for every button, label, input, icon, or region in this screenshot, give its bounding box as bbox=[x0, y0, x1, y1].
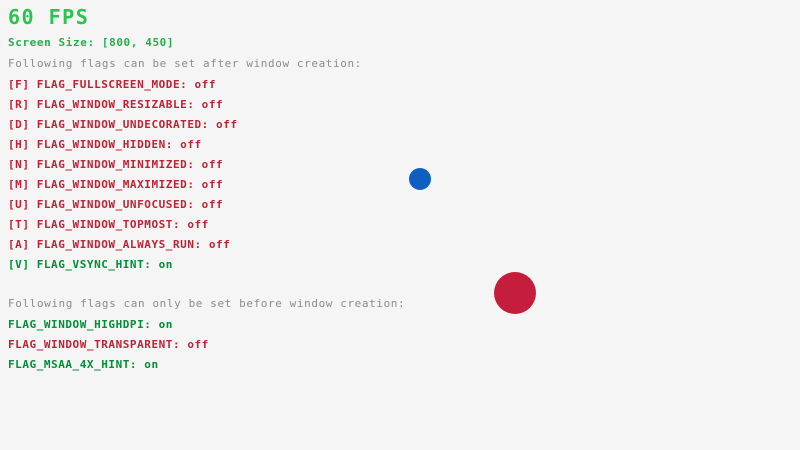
raylib-window-canvas[interactable]: 60 FPS Screen Size: [800, 450] Following… bbox=[0, 0, 800, 450]
flag-row-window-maximized[interactable]: [M] FLAG_WINDOW_MAXIMIZED: off bbox=[8, 179, 223, 190]
flag-row-window-always-run[interactable]: [A] FLAG_WINDOW_ALWAYS_RUN: off bbox=[8, 239, 230, 250]
flag-row-vsync-hint[interactable]: [V] FLAG_VSYNC_HINT: on bbox=[8, 259, 173, 270]
flag-row-msaa-4x-hint: FLAG_MSAA_4X_HINT: on bbox=[8, 359, 159, 370]
flag-row-window-hidden[interactable]: [H] FLAG_WINDOW_HIDDEN: off bbox=[8, 139, 202, 150]
screen-size-label: Screen Size: [800, 450] bbox=[8, 37, 174, 48]
flag-row-window-transparent: FLAG_WINDOW_TRANSPARENT: off bbox=[8, 339, 209, 350]
red-ball-shape bbox=[494, 272, 536, 314]
fps-counter: 60 FPS bbox=[8, 7, 89, 27]
flag-row-window-topmost[interactable]: [T] FLAG_WINDOW_TOPMOST: off bbox=[8, 219, 209, 230]
flag-row-window-undecorated[interactable]: [D] FLAG_WINDOW_UNDECORATED: off bbox=[8, 119, 238, 130]
blue-ball-shape bbox=[409, 168, 431, 190]
flag-row-fullscreen-mode[interactable]: [F] FLAG_FULLSCREEN_MODE: off bbox=[8, 79, 216, 90]
section-header-creation-flags: Following flags can only be set before w… bbox=[8, 298, 405, 309]
flag-row-window-highdpi: FLAG_WINDOW_HIGHDPI: on bbox=[8, 319, 173, 330]
flag-row-window-minimized[interactable]: [N] FLAG_WINDOW_MINIMIZED: off bbox=[8, 159, 223, 170]
section-header-runtime-flags: Following flags can be set after window … bbox=[8, 58, 362, 69]
flag-row-window-resizable[interactable]: [R] FLAG_WINDOW_RESIZABLE: off bbox=[8, 99, 223, 110]
flag-row-window-unfocused[interactable]: [U] FLAG_WINDOW_UNFOCUSED: off bbox=[8, 199, 223, 210]
